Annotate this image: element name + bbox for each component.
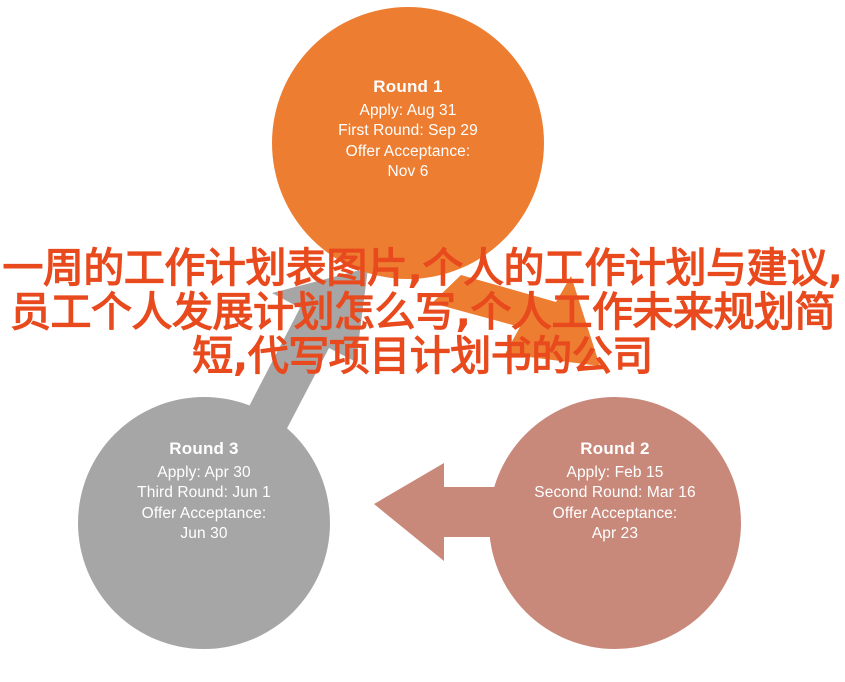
- node-circle-round2[interactable]: [489, 397, 741, 649]
- node-circle-round1[interactable]: [272, 7, 544, 279]
- arrow-round1-to-round2-icon: [432, 275, 600, 366]
- node-circle-round3[interactable]: [78, 397, 330, 649]
- arrow-round2-to-round3-icon: [374, 463, 503, 561]
- process-diagram: [0, 0, 845, 682]
- diagram-canvas: Round 1 Apply: Aug 31 First Round: Sep 2…: [0, 0, 845, 682]
